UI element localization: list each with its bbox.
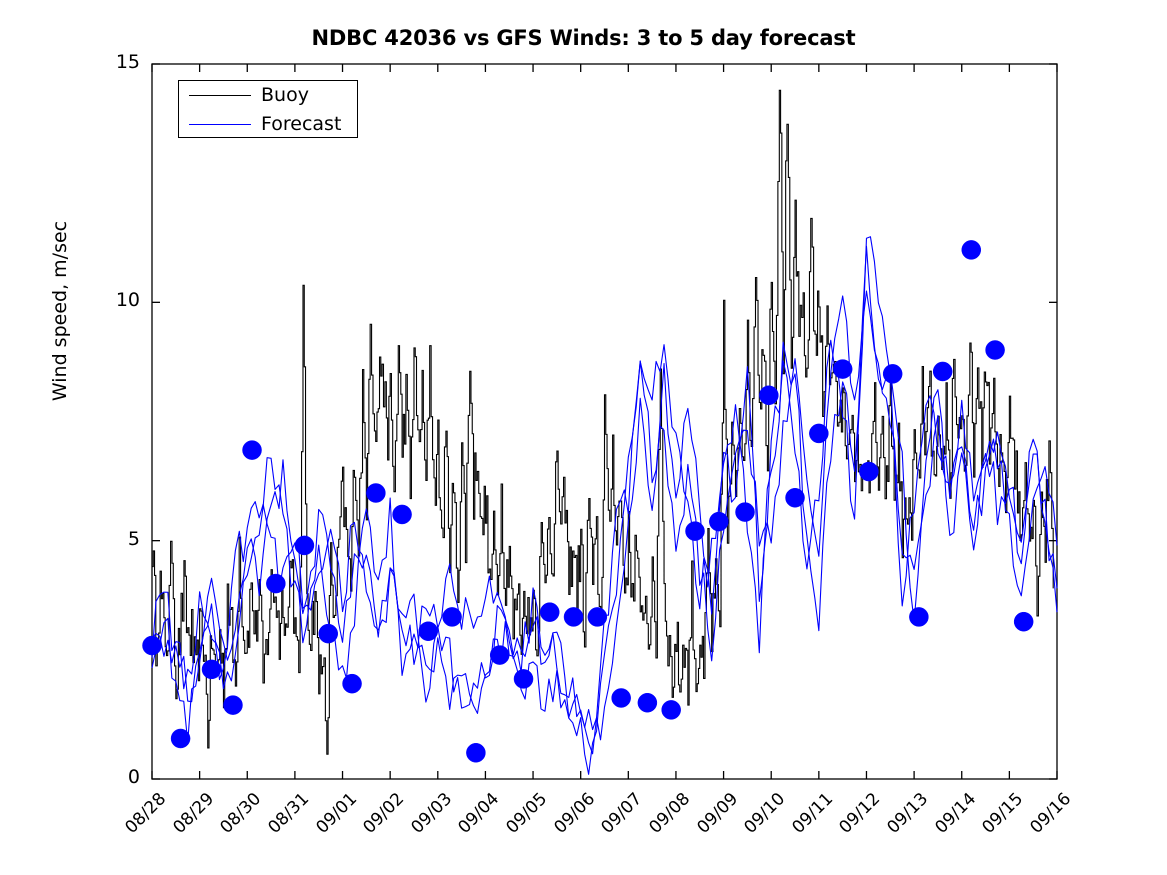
chart-figure: NDBC 42036 vs GFS Winds: 3 to 5 day fore… bbox=[0, 0, 1167, 875]
plot-canvas bbox=[0, 0, 1167, 875]
legend-label-forecast: Forecast bbox=[261, 113, 341, 135]
legend-swatch-buoy bbox=[189, 95, 251, 96]
legend-swatch-forecast bbox=[189, 124, 251, 125]
legend-label-buoy: Buoy bbox=[261, 84, 309, 106]
legend-entry-buoy: Buoy bbox=[179, 81, 357, 110]
series-forecast-lines bbox=[152, 237, 1057, 775]
legend-entry-forecast: Forecast bbox=[179, 110, 357, 139]
legend: Buoy Forecast bbox=[178, 80, 358, 138]
series-buoy-line bbox=[152, 90, 1053, 754]
series-forecast-markers bbox=[143, 240, 1034, 762]
